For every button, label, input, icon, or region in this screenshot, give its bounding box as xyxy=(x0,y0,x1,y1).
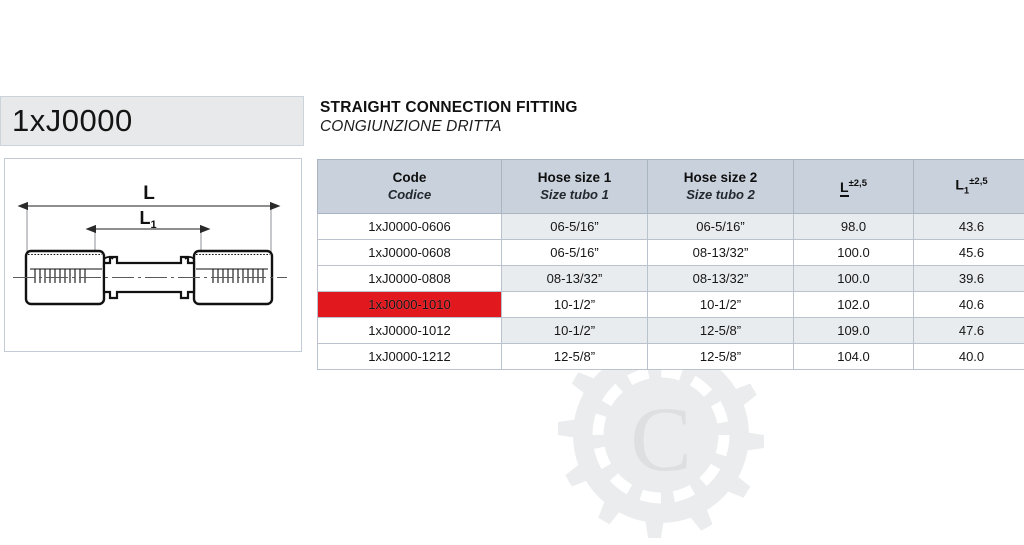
cell-length-L1: 40.6 xyxy=(914,292,1024,318)
cell-hose-size-1: 10-1/2” xyxy=(502,292,648,318)
cell-hose-size-2: 12-5/8” xyxy=(648,344,794,370)
cell-length-L: 109.0 xyxy=(794,318,914,344)
cell-length-L: 100.0 xyxy=(794,240,914,266)
table-row[interactable]: 1xJ0000-101210-1/2”12-5/8”109.047.6 xyxy=(318,318,1024,344)
cell-hose-size-2: 10-1/2” xyxy=(648,292,794,318)
cell-length-L1: 39.6 xyxy=(914,266,1024,292)
column-header-hose1-en: Hose size 1 xyxy=(506,170,643,186)
table-row[interactable]: 1xJ0000-080808-13/32”08-13/32”100.039.6 xyxy=(318,266,1024,292)
cell-code: 1xJ0000-0808 xyxy=(318,266,502,292)
symbol-L: L xyxy=(840,179,849,197)
product-title-it: CONGIUNZIONE DRITTA xyxy=(320,117,578,137)
tolerance-L1: ±2,5 xyxy=(969,176,987,187)
column-header-hose2-en: Hose size 2 xyxy=(652,170,789,186)
product-code-band: 1xJ0000 xyxy=(0,96,304,146)
tolerance-L: ±2,5 xyxy=(849,178,867,189)
cell-length-L1: 43.6 xyxy=(914,214,1024,240)
symbol-L1: L xyxy=(955,177,964,193)
cell-hose-size-2: 08-13/32” xyxy=(648,266,794,292)
cell-hose-size-1: 10-1/2” xyxy=(502,318,648,344)
cell-length-L1: 47.6 xyxy=(914,318,1024,344)
column-header-code-it: Codice xyxy=(322,186,497,203)
technical-drawing-panel: L L1 xyxy=(4,158,302,352)
table-row[interactable]: 1xJ0000-121212-5/8”12-5/8”104.040.0 xyxy=(318,344,1024,370)
column-header-length-L: L±2,5 xyxy=(794,160,914,214)
cell-hose-size-2: 08-13/32” xyxy=(648,240,794,266)
dimension-label-L: L xyxy=(143,183,155,204)
cell-hose-size-1: 08-13/32” xyxy=(502,266,648,292)
dimension-label-L1: L1 xyxy=(139,208,156,231)
cell-length-L: 102.0 xyxy=(794,292,914,318)
column-header-length-L1: L1±2,5 xyxy=(914,160,1024,214)
cell-hose-size-2: 12-5/8” xyxy=(648,318,794,344)
cell-hose-size-1: 06-5/16” xyxy=(502,240,648,266)
cell-length-L1: 40.0 xyxy=(914,344,1024,370)
cell-hose-size-1: 06-5/16” xyxy=(502,214,648,240)
column-header-code-en: Code xyxy=(322,170,497,186)
cell-code: 1xJ0000-1012 xyxy=(318,318,502,344)
table-row[interactable]: 1xJ0000-060806-5/16”08-13/32”100.045.6 xyxy=(318,240,1024,266)
cell-code: 1xJ0000-0608 xyxy=(318,240,502,266)
watermark-letter: C xyxy=(630,388,691,490)
cell-length-L: 100.0 xyxy=(794,266,914,292)
cell-code: 1xJ0000-0606 xyxy=(318,214,502,240)
column-header-hose-size-2: Hose size 2 Size tubo 2 xyxy=(648,160,794,214)
cell-length-L1: 45.6 xyxy=(914,240,1024,266)
table-row[interactable]: 1xJ0000-101010-1/2”10-1/2”102.040.6 xyxy=(318,292,1024,318)
cell-length-L: 104.0 xyxy=(794,344,914,370)
cell-code: 1xJ0000-1010 xyxy=(318,292,502,318)
table-header-row: Code Codice Hose size 1 Size tubo 1 Hose… xyxy=(318,160,1024,214)
cell-length-L: 98.0 xyxy=(794,214,914,240)
table-row[interactable]: 1xJ0000-060606-5/16”06-5/16”98.043.6 xyxy=(318,214,1024,240)
product-title-en: STRAIGHT CONNECTION FITTING xyxy=(320,98,578,117)
specification-table: Code Codice Hose size 1 Size tubo 1 Hose… xyxy=(317,159,1024,370)
cell-hose-size-1: 12-5/8” xyxy=(502,344,648,370)
column-header-code: Code Codice xyxy=(318,160,502,214)
product-title-block: STRAIGHT CONNECTION FITTING CONGIUNZIONE… xyxy=(320,98,578,137)
column-header-hose-size-1: Hose size 1 Size tubo 1 xyxy=(502,160,648,214)
symbol-L1-subscript: 1 xyxy=(964,186,969,197)
page-title: 1xJ0000 xyxy=(1,103,133,139)
column-header-hose1-it: Size tubo 1 xyxy=(506,186,643,203)
cell-code: 1xJ0000-1212 xyxy=(318,344,502,370)
column-header-hose2-it: Size tubo 2 xyxy=(652,186,789,203)
cell-hose-size-2: 06-5/16” xyxy=(648,214,794,240)
fitting-cross-section-drawing: L L1 xyxy=(5,159,301,351)
